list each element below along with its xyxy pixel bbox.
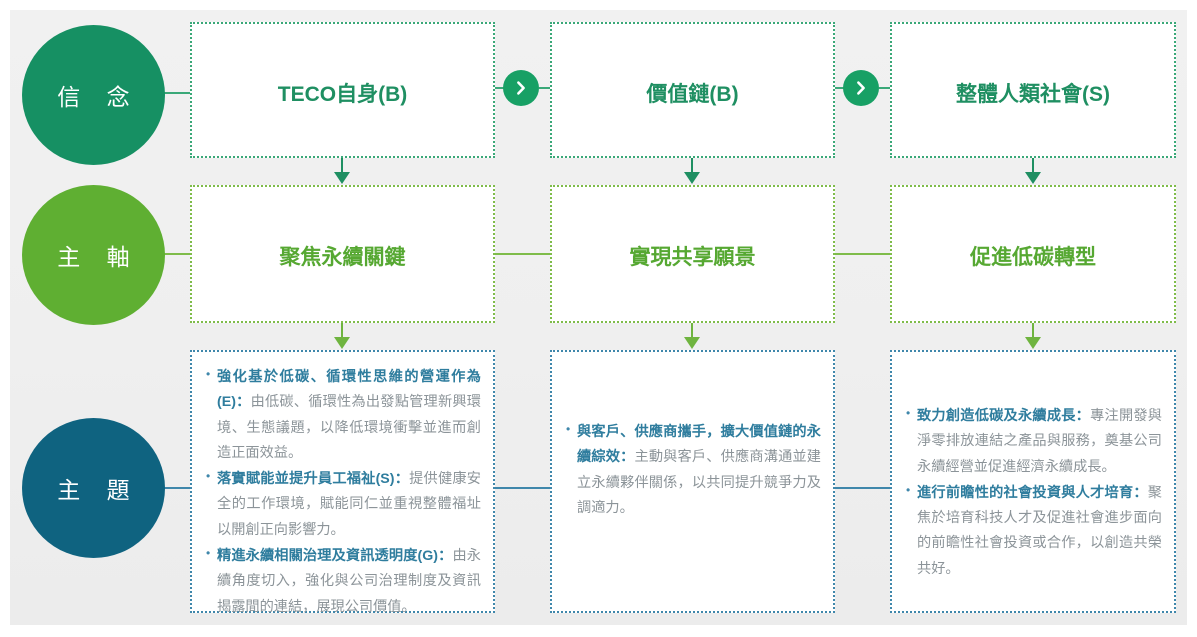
axis-box-1-title: 聚焦永續關鍵 <box>192 241 493 271</box>
belief-box-3-title: 整體人類社會(S) <box>892 78 1174 108</box>
list-item: 精進永續相關治理及資訊透明度(G)：由永續角度切入，強化與公司治理制度及資訊揭露… <box>206 544 481 620</box>
connector-belief-circle-to-box <box>163 92 192 94</box>
connector-topic-circle-to-box <box>163 487 192 489</box>
diagram-canvas: 信 念 TECO自身(B) 價值鏈(B) 整體人類社會(S) 主 軸 聚焦永續關… <box>0 0 1197 637</box>
bullet-lead: 致力創造低碳及永續成長： <box>917 408 1090 424</box>
axis-box-1[interactable]: 聚焦永續關鍵 <box>190 185 495 323</box>
topic-box-1[interactable]: 強化基於低碳、循環性思維的營運作為(E)：由低碳、循環性為出發點管理新興環境、生… <box>190 350 495 613</box>
belief-box-1-title: TECO自身(B) <box>192 78 493 108</box>
axis-box-3[interactable]: 促進低碳轉型 <box>890 185 1176 323</box>
belief-box-2[interactable]: 價值鏈(B) <box>550 22 835 158</box>
bullet-rest: 由低碳、循環性為出發點管理新興環境、生態議題，以降低環境衝擊並進而創造正面效益。 <box>217 394 481 461</box>
list-item: 強化基於低碳、循環性思維的營運作為(E)：由低碳、循環性為出發點管理新興環境、生… <box>206 365 481 466</box>
axis-box-2-title: 實現共享願景 <box>552 241 833 271</box>
topic-box-2[interactable]: 與客戶、供應商攜手，擴大價值鏈的永續綜效：主動與客戶、供應商溝通並建立永續夥伴關… <box>550 350 835 613</box>
topic-box-1-bullet-list: 強化基於低碳、循環性思維的營運作為(E)：由低碳、循環性為出發點管理新興環境、生… <box>206 365 481 621</box>
topic-box-2-bullet-list: 與客戶、供應商攜手，擴大價值鏈的永續綜效：主動與客戶、供應商溝通並建立永續夥伴關… <box>566 420 821 522</box>
connector-topic-box-2-to-3 <box>834 487 892 489</box>
chevron-right-icon <box>853 80 869 96</box>
list-item: 落實賦能並提升員工福祉(S)：提供健康安全的工作環境，賦能同仁並重視整體福址以開… <box>206 467 481 543</box>
bullet-lead: 落實賦能並提升員工福祉(S)： <box>217 471 409 487</box>
axis-box-3-title: 促進低碳轉型 <box>892 241 1174 271</box>
arrow-head-axis-to-topic-2 <box>684 337 700 349</box>
connector-axis-circle-to-box <box>163 253 192 255</box>
belief-box-1[interactable]: TECO自身(B) <box>190 22 495 158</box>
arrow-head-axis-to-topic-1 <box>334 337 350 349</box>
bullet-lead: 精進永續相關治理及資訊透明度(G)： <box>217 548 452 564</box>
belief-box-3[interactable]: 整體人類社會(S) <box>890 22 1176 158</box>
bullet-lead: 進行前瞻性的社會投資與人才培育： <box>917 485 1148 501</box>
arrow-head-axis-to-topic-3 <box>1025 337 1041 349</box>
connector-axis-box-1-to-2 <box>494 253 552 255</box>
arrow-head-belief-to-axis-2 <box>684 172 700 184</box>
arrow-head-belief-to-axis-3 <box>1025 172 1041 184</box>
row-label-axis: 主 軸 <box>22 185 165 325</box>
topic-box-3[interactable]: 致力創造低碳及永續成長：專注開發與淨零排放連結之產品與服務，奠基公司永續經營並促… <box>890 350 1176 613</box>
topic-box-3-bullet-list: 致力創造低碳及永續成長：專注開發與淨零排放連結之產品與服務，奠基公司永續經營並促… <box>906 404 1162 583</box>
list-item: 進行前瞻性的社會投資與人才培育：聚焦於培育科技人才及促進社會進步面向的前瞻性社會… <box>906 481 1162 582</box>
axis-box-2[interactable]: 實現共享願景 <box>550 185 835 323</box>
connector-topic-box-1-to-2 <box>494 487 552 489</box>
connector-axis-box-2-to-3 <box>834 253 892 255</box>
row-label-topic: 主 題 <box>22 418 165 558</box>
chevron-right-button-2[interactable] <box>843 70 879 106</box>
list-item: 致力創造低碳及永續成長：專注開發與淨零排放連結之產品與服務，奠基公司永續經營並促… <box>906 404 1162 480</box>
list-item: 與客戶、供應商攜手，擴大價值鏈的永續綜效：主動與客戶、供應商溝通並建立永續夥伴關… <box>566 420 821 521</box>
row-label-belief: 信 念 <box>22 25 165 165</box>
chevron-right-button-1[interactable] <box>503 70 539 106</box>
chevron-right-icon <box>513 80 529 96</box>
belief-box-2-title: 價值鏈(B) <box>552 78 833 108</box>
arrow-head-belief-to-axis-1 <box>334 172 350 184</box>
